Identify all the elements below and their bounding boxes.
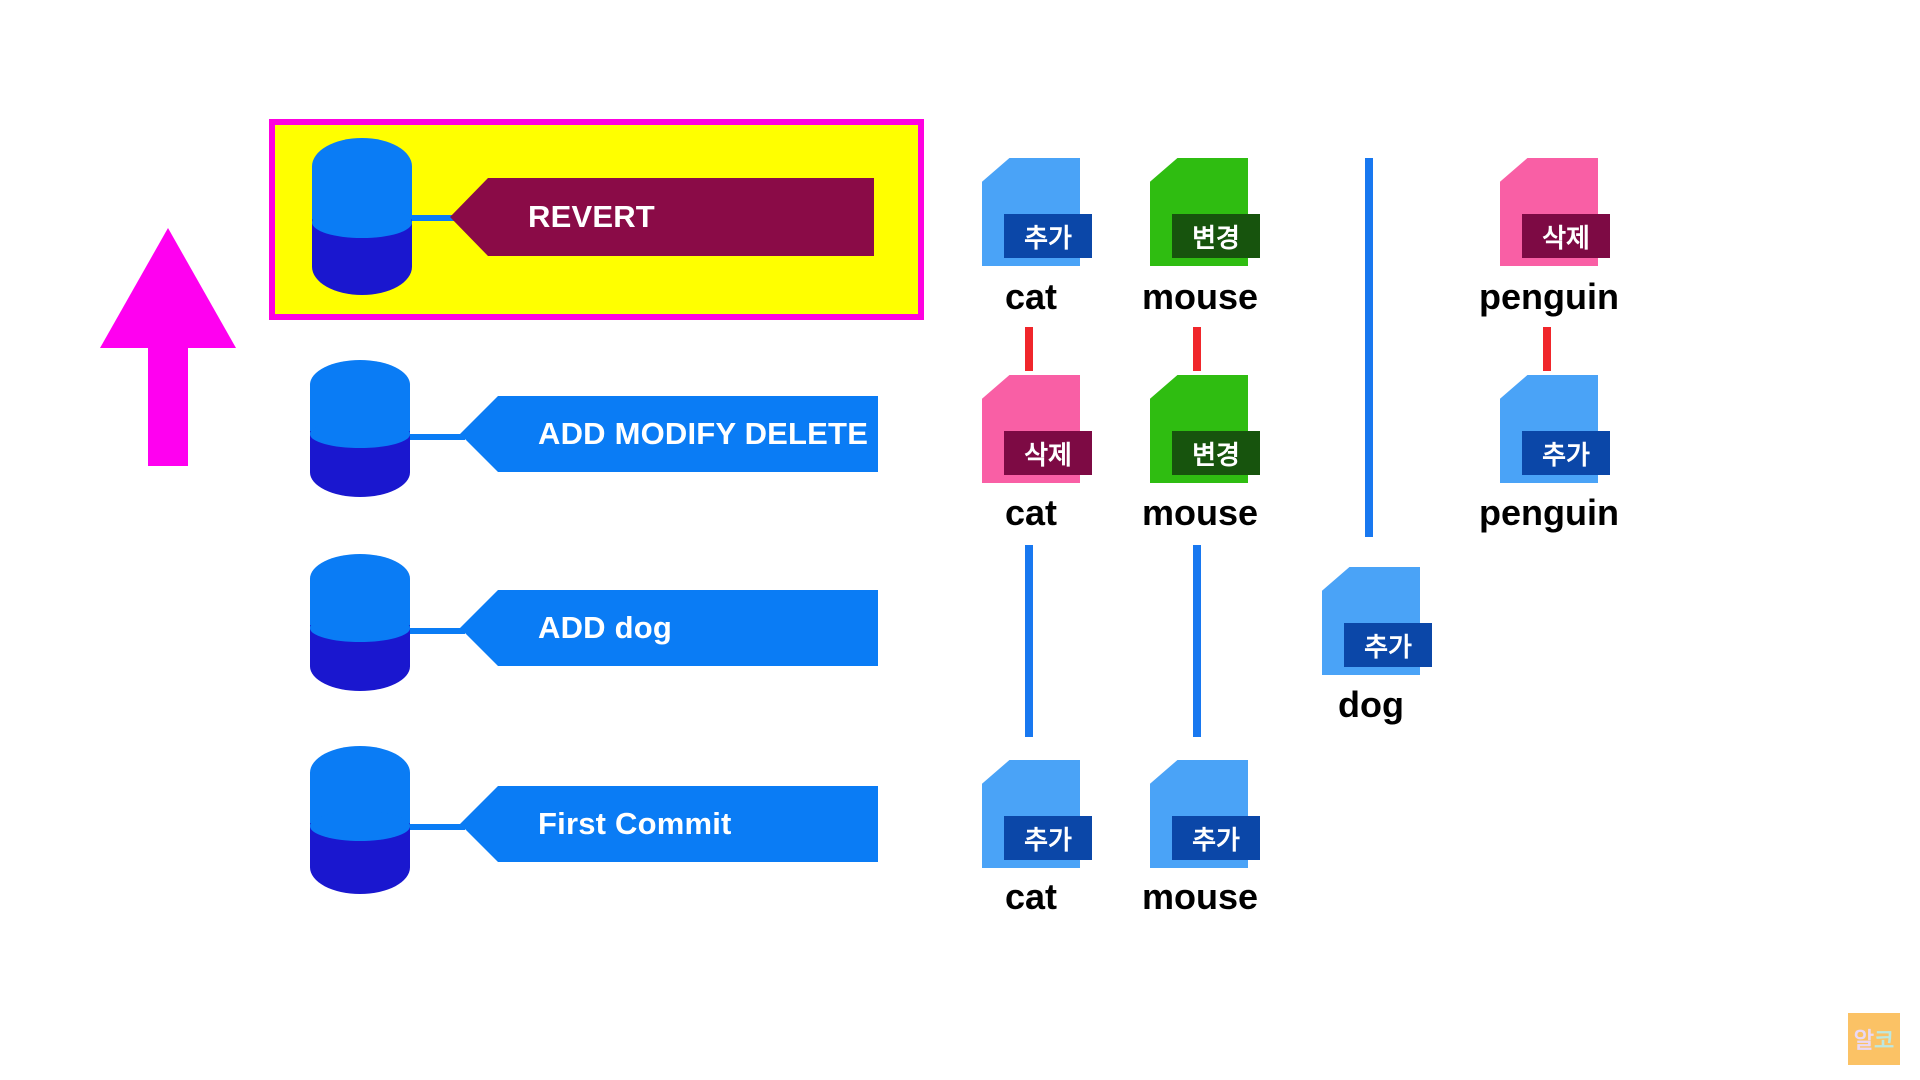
file-label-cat-r4: cat bbox=[961, 876, 1101, 918]
file-card-penguin-r1[interactable]: 삭제 bbox=[1500, 158, 1598, 266]
commit-node-revert[interactable] bbox=[312, 138, 412, 295]
connector-mouse-r1-r2 bbox=[1193, 327, 1201, 371]
file-status-tag: 추가 bbox=[1172, 816, 1260, 860]
arrow-head bbox=[100, 228, 236, 348]
file-label-cat-r1: cat bbox=[961, 276, 1101, 318]
file-card-dog-r3[interactable]: 추가 bbox=[1322, 567, 1420, 675]
file-status-tag: 추가 bbox=[1344, 623, 1432, 667]
file-label-penguin-r1: penguin bbox=[1464, 276, 1634, 318]
file-card-cat-r1[interactable]: 추가 bbox=[982, 158, 1080, 266]
commit-node-add-modify-delete[interactable] bbox=[310, 360, 410, 497]
file-label-cat-r2: cat bbox=[961, 492, 1101, 534]
commit-node-cylinder bbox=[310, 746, 410, 894]
file-label-dog-r3: dog bbox=[1301, 684, 1441, 726]
connector-mouse-r2-r4 bbox=[1193, 545, 1201, 737]
file-label-mouse-r2: mouse bbox=[1125, 492, 1275, 534]
commit-node-cylinder bbox=[312, 138, 412, 295]
file-status-tag: 변경 bbox=[1172, 214, 1260, 258]
commit-connector-stub-first-commit bbox=[410, 824, 465, 830]
connector-cat-r1-r2 bbox=[1025, 327, 1033, 371]
file-card-cat-r2[interactable]: 삭제 bbox=[982, 375, 1080, 483]
watermark-logo: 알코 bbox=[1848, 1013, 1900, 1065]
file-label-penguin-r2: penguin bbox=[1464, 492, 1634, 534]
commit-node-cylinder bbox=[310, 554, 410, 691]
logo-glyph-1: 알 bbox=[1854, 1023, 1874, 1055]
commit-connector-stub-add-dog bbox=[410, 628, 465, 634]
commit-bar-add-modify-delete[interactable]: ADD MODIFY DELETE bbox=[460, 396, 878, 472]
up-arrow-icon bbox=[100, 228, 236, 466]
commit-connector-stub-amd bbox=[410, 434, 465, 440]
arrow-shaft bbox=[148, 346, 188, 466]
connector-cat-r2-r4 bbox=[1025, 545, 1033, 737]
file-label-mouse-r4: mouse bbox=[1125, 876, 1275, 918]
logo-glyph-2: 코 bbox=[1874, 1023, 1894, 1055]
file-card-mouse-r2[interactable]: 변경 bbox=[1150, 375, 1248, 483]
commit-bar-revert[interactable]: REVERT bbox=[450, 178, 874, 256]
file-card-mouse-r1[interactable]: 변경 bbox=[1150, 158, 1248, 266]
file-status-tag: 삭제 bbox=[1004, 431, 1092, 475]
file-status-tag: 추가 bbox=[1004, 214, 1092, 258]
file-card-penguin-r2[interactable]: 추가 bbox=[1500, 375, 1598, 483]
file-label-mouse-r1: mouse bbox=[1125, 276, 1275, 318]
file-status-tag: 추가 bbox=[1522, 431, 1610, 475]
commit-node-cylinder bbox=[310, 360, 410, 497]
file-status-tag: 추가 bbox=[1004, 816, 1092, 860]
commit-bar-first-commit[interactable]: First Commit bbox=[460, 786, 878, 862]
commit-node-add-dog[interactable] bbox=[310, 554, 410, 691]
file-status-tag: 변경 bbox=[1172, 431, 1260, 475]
file-status-tag: 삭제 bbox=[1522, 214, 1610, 258]
commit-bar-add-dog[interactable]: ADD dog bbox=[460, 590, 878, 666]
connector-penguin-r1-r2 bbox=[1543, 327, 1551, 371]
commit-node-first-commit[interactable] bbox=[310, 746, 410, 894]
diagram-canvas: REVERT ADD MODIFY DELETE ADD dog First C… bbox=[0, 0, 1920, 1080]
file-card-mouse-r4[interactable]: 추가 bbox=[1150, 760, 1248, 868]
connector-dog-r1-r3 bbox=[1365, 158, 1373, 537]
file-card-cat-r4[interactable]: 추가 bbox=[982, 760, 1080, 868]
